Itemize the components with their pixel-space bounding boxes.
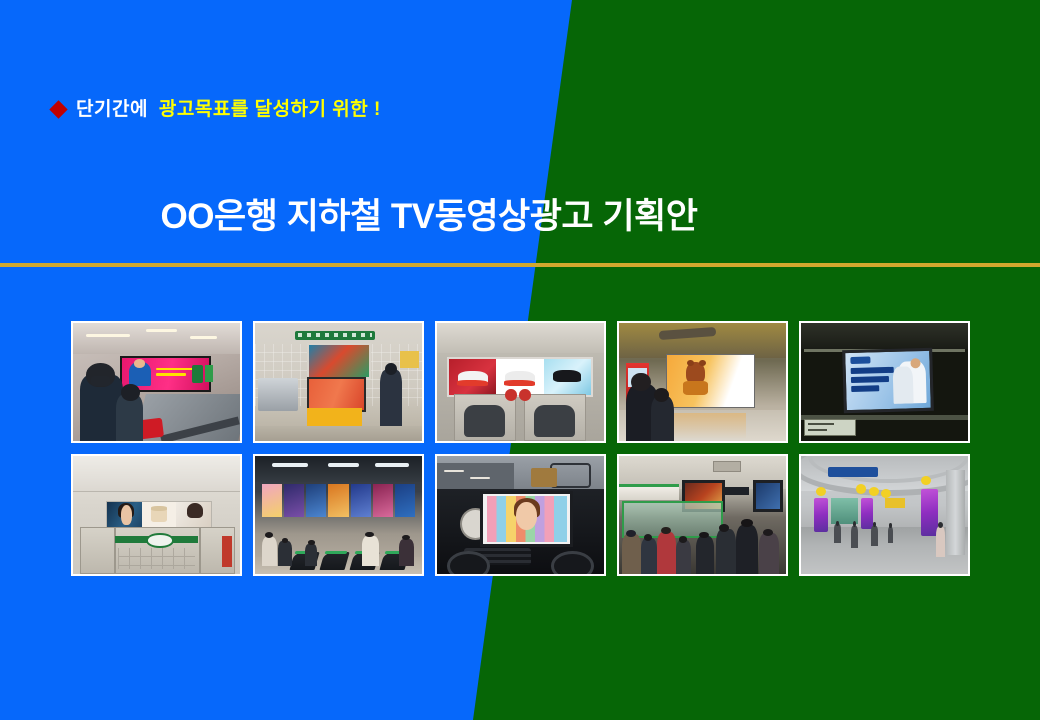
gallery-photo-10 [799,454,970,576]
presentation-slide: 단기간에 광고목표를 달성하기 위한 ! OO은행 지하철 TV동영상광고 기획… [0,0,1040,720]
gallery-photo-3 [435,321,606,443]
subtitle-text-part2: 광고목표를 달성하기 위한 ! [159,100,381,119]
subtitle-row: 단기간에 광고목표를 달성하기 위한 ! [52,100,381,119]
gallery-photo-6 [71,454,242,576]
gallery-photo-9 [617,454,788,576]
photo-gallery-grid [71,321,969,576]
page-title: OO은행 지하철 TV동영상광고 기획안 [0,198,1040,237]
gold-divider-line [0,263,1040,267]
gallery-photo-4 [617,321,788,443]
gallery-photo-2 [253,321,424,443]
diamond-bullet-icon [49,100,67,118]
subtitle-text-part1: 단기간에 [76,100,148,119]
gallery-photo-7 [253,454,424,576]
gallery-photo-5 [799,321,970,443]
gallery-photo-8 [435,454,606,576]
gallery-photo-1 [71,321,242,443]
